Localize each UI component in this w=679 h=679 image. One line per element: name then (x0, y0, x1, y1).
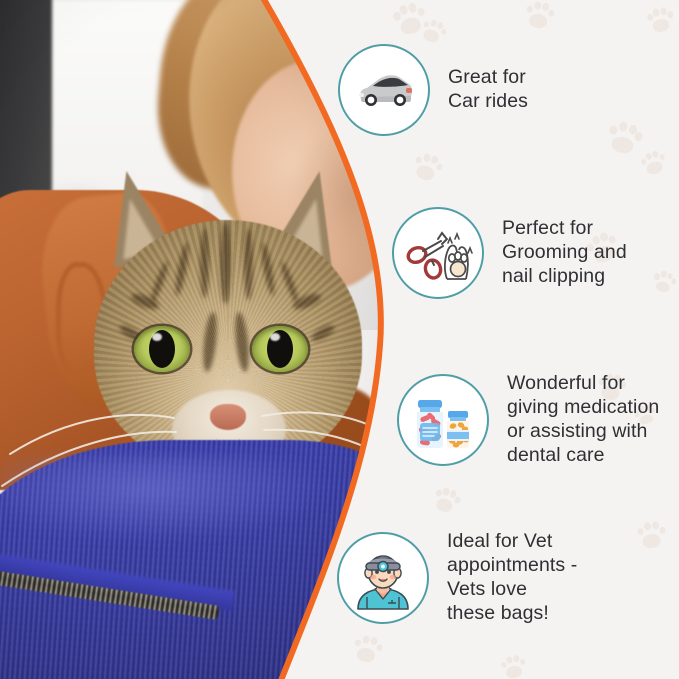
feature-infographic: Great for Car rides (0, 0, 679, 679)
feature-icon-circle (397, 374, 489, 466)
feature-icon-circle (338, 44, 430, 136)
nail-clipper-paw-icon (402, 217, 474, 289)
feature-label: Wonderful for giving medication or assis… (507, 372, 659, 468)
feature-icon-circle (392, 207, 484, 299)
feature-label: Perfect for Grooming and nail clipping (502, 217, 627, 289)
pill-bottles-icon (406, 383, 480, 457)
feature-item-medication[interactable]: Wonderful for giving medication or assis… (397, 372, 659, 468)
car-icon (349, 55, 419, 125)
feature-item-vet[interactable]: Ideal for Vet appointments - Vets love t… (337, 530, 577, 626)
veterinarian-icon (346, 541, 420, 615)
feature-icon-circle (337, 532, 429, 624)
feature-label: Great for Car rides (448, 66, 528, 114)
feature-list: Great for Car rides (0, 0, 679, 679)
feature-label: Ideal for Vet appointments - Vets love t… (447, 530, 577, 626)
feature-item-grooming[interactable]: Perfect for Grooming and nail clipping (392, 207, 627, 299)
feature-item-car-rides[interactable]: Great for Car rides (338, 44, 528, 136)
